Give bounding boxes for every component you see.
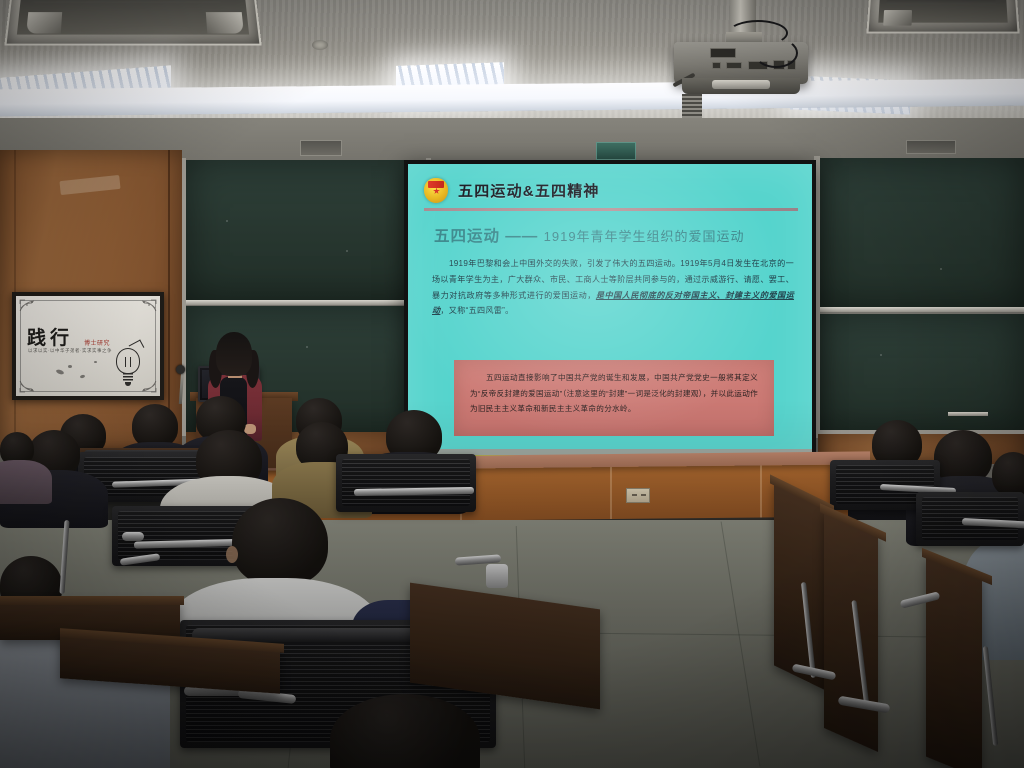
projector-cable [754, 38, 798, 68]
auditorium-chair [336, 454, 476, 520]
auditorium-chair [916, 492, 1024, 558]
audience-shoulders [0, 460, 52, 504]
slide-content: 五四运动&五四精神 五四运动 —— 1919年青年学生组织的爱国运动 1919年… [408, 164, 812, 464]
audience-head [232, 498, 328, 586]
chalkboard-left-upper [186, 160, 430, 300]
audience-ear [226, 546, 238, 563]
wall-vent-icon [906, 140, 956, 154]
lecture-hall-photo: 践行 博士研究 以求以实·以中华子弟者·实求实事之争 [0, 0, 1024, 768]
air-conditioner-vent-icon [4, 0, 261, 46]
student-desk [774, 479, 826, 690]
poster-corner-ornament [18, 378, 40, 394]
wall-vent-icon [300, 140, 342, 156]
projection-screen: 五四运动&五四精神 五四运动 —— 1919年青年学生组织的爱国运动 1919年… [404, 160, 816, 468]
screen-mount-bracket [596, 142, 636, 160]
slide-heading-main: 五四运动 —— [434, 228, 538, 245]
slide-highlight-text: 五四运动直接影响了中国共产党的诞生和发展，中国共产党党史一般将其定义为“反帝反封… [454, 360, 774, 417]
poster-corner-ornament [136, 298, 158, 314]
slide-divider [424, 208, 798, 211]
slide-heading-sub: 1919年青年学生组织的爱国运动 [544, 229, 745, 244]
student-desk [824, 510, 878, 752]
slide-body-part2: ，又称“五四风雷”。 [440, 306, 513, 315]
projector [668, 0, 868, 110]
slide-body-text: 1919年巴黎和会上中国外交的失败，引发了伟大的五四运动。1919年5月4日发生… [432, 256, 794, 319]
ceiling-speaker-icon [312, 40, 328, 50]
slide-header: 五四运动&五四精神 [424, 174, 798, 206]
projector-lens-icon [712, 80, 770, 89]
chalkboard-right-upper [820, 158, 1024, 308]
air-conditioner-vent-icon [866, 0, 1019, 34]
slide-title: 五四运动&五四精神 [458, 180, 600, 201]
poster-corner-ornament [18, 298, 40, 314]
board-frame [182, 158, 186, 436]
microphone-head-icon [176, 365, 185, 374]
audience-head [992, 452, 1024, 496]
wall-reflection [59, 175, 120, 195]
communist-youth-league-emblem-icon [424, 178, 448, 203]
poster-line: 以求以实·以中华子弟者·实求实事之争 [28, 348, 112, 354]
slide-heading: 五四运动 —— 1919年青年学生组织的爱国运动 [434, 224, 745, 246]
lightbulb-icon [110, 342, 146, 388]
desk-top [0, 596, 184, 605]
chalkboard-right-lower [820, 314, 1024, 432]
slide-highlight-box: 五四运动直接影响了中国共产党的诞生和发展，中国共产党党史一般将其定义为“反帝反封… [454, 360, 774, 436]
poster-subtitle: 博士研究 [84, 338, 110, 347]
framed-wall-poster: 践行 博士研究 以求以实·以中华子弟者·实求实事之争 [12, 292, 164, 400]
chair-hinge [486, 564, 508, 588]
poster-title: 践行 [27, 323, 73, 350]
wall-outlet-plate [626, 488, 650, 503]
chalk-rail [820, 307, 1024, 312]
student-desk [926, 555, 982, 768]
chalk-rail [186, 300, 430, 305]
